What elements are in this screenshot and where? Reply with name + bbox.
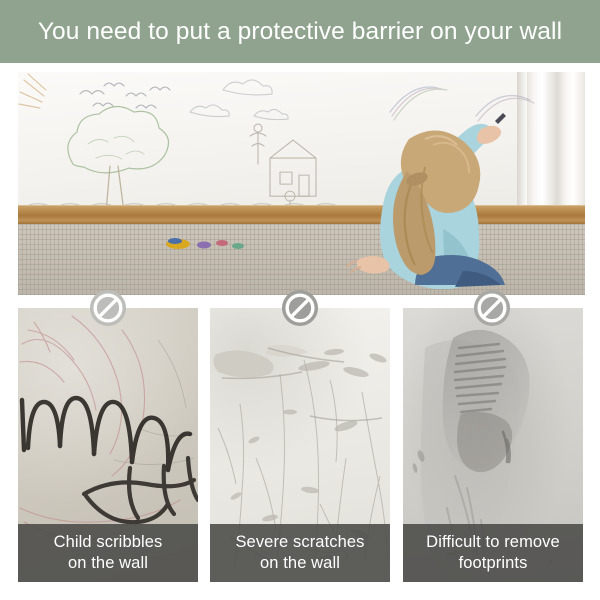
problem-panel: Severe scratches on the wall (210, 308, 390, 582)
poster-root: You need to put a protective barrier on … (0, 0, 600, 600)
caption-line-2: on the wall (260, 554, 340, 572)
prohibition-icon (473, 289, 511, 327)
carpet-toys (164, 232, 254, 256)
panel-caption-bar: Severe scratches on the wall (210, 524, 390, 582)
prohibition-icon (89, 289, 127, 327)
panel-caption-text: Child scribbles on the wall (50, 532, 167, 575)
caption-line-1: Child scribbles (54, 533, 163, 551)
panel-caption-text: Difficult to remove footprints (422, 532, 564, 575)
caption-line-2: footprints (459, 554, 528, 572)
caption-line-1: Severe scratches (235, 533, 364, 551)
girl-figure (313, 109, 513, 289)
panel-caption-text: Severe scratches on the wall (231, 532, 368, 575)
problem-panel: Child scribbles on the wall (18, 308, 198, 582)
prohibition-icon (281, 289, 319, 327)
caption-line-2: on the wall (68, 554, 148, 572)
hero-photo (18, 72, 585, 295)
caption-line-1: Difficult to remove (426, 533, 560, 551)
problem-panel: Difficult to remove footprints (403, 308, 583, 582)
header-banner: You need to put a protective barrier on … (0, 0, 600, 63)
page-title: You need to put a protective barrier on … (38, 18, 562, 46)
panel-caption-bar: Child scribbles on the wall (18, 524, 198, 582)
panel-caption-bar: Difficult to remove footprints (403, 524, 583, 582)
